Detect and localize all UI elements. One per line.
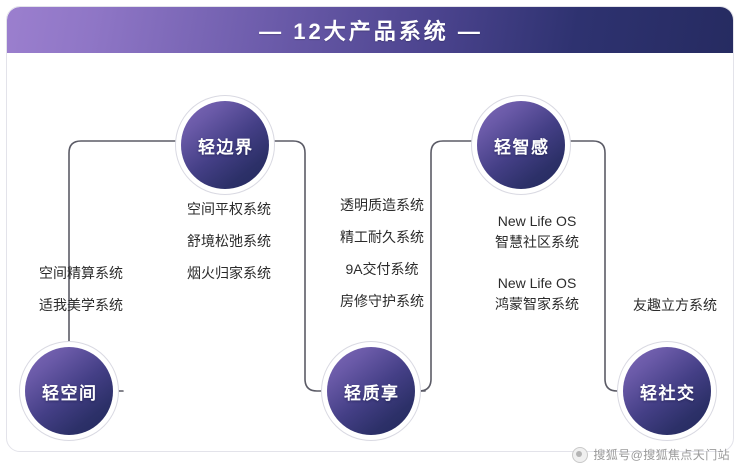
list-item: New Life OS 鸿蒙智家系统 — [463, 273, 611, 315]
list-item: 适我美学系统 — [15, 295, 147, 315]
item-line: 空间平权系统 — [159, 199, 299, 219]
node-label: 轻边界 — [197, 133, 254, 158]
infographic-root: — 12大产品系统 — 轻边界 轻智感 轻空间 轻质享 — [0, 0, 740, 467]
item-line: 精工耐久系统 — [311, 227, 453, 247]
item-line: 透明质造系统 — [311, 195, 453, 215]
infographic-card: — 12大产品系统 — 轻边界 轻智感 轻空间 轻质享 — [6, 6, 734, 452]
page-title: — 12大产品系统 — — [259, 14, 483, 46]
item-line: 鸿蒙智家系统 — [463, 294, 611, 315]
item-line: 烟火归家系统 — [159, 263, 299, 283]
group-qingbianjie: 空间平权系统 舒境松弛系统 烟火归家系统 — [159, 199, 299, 283]
group-qingzhixiang: 透明质造系统 精工耐久系统 9A交付系统 房修守护系统 — [311, 195, 453, 311]
item-line: 智慧社区系统 — [463, 232, 611, 253]
item-line: 舒境松弛系统 — [159, 231, 299, 251]
list-item: 烟火归家系统 — [159, 263, 299, 283]
group-qingkongjian: 空间精算系统 适我美学系统 — [15, 263, 147, 315]
title-bar: — 12大产品系统 — — [7, 7, 734, 53]
list-item: New Life OS 智慧社区系统 — [463, 211, 611, 253]
node-label: 轻社交 — [639, 379, 696, 404]
list-item: 透明质造系统 — [311, 195, 453, 215]
node-qingshejiao[interactable]: 轻社交 — [623, 347, 711, 435]
list-item: 精工耐久系统 — [311, 227, 453, 247]
node-label: 轻空间 — [41, 379, 98, 404]
list-item: 舒境松弛系统 — [159, 231, 299, 251]
watermark: 搜狐号@搜狐焦点天门站 — [572, 446, 730, 463]
item-line: New Life OS — [463, 211, 611, 232]
watermark-text: 搜狐号@搜狐焦点天门站 — [593, 446, 730, 463]
node-qingzhigan[interactable]: 轻智感 — [477, 101, 565, 189]
node-label: 轻智感 — [493, 133, 550, 158]
item-line: 空间精算系统 — [15, 263, 147, 283]
list-item: 空间平权系统 — [159, 199, 299, 219]
item-line: New Life OS — [463, 273, 611, 294]
node-qingkongjian[interactable]: 轻空间 — [25, 347, 113, 435]
list-item: 空间精算系统 — [15, 263, 147, 283]
list-item: 9A交付系统 — [311, 259, 453, 279]
item-line: 友趣立方系统 — [609, 295, 734, 315]
item-line: 9A交付系统 — [311, 259, 453, 279]
group-qingzhigan: New Life OS 智慧社区系统 New Life OS 鸿蒙智家系统 — [463, 211, 611, 315]
list-item: 房修守护系统 — [311, 291, 453, 311]
item-line: 适我美学系统 — [15, 295, 147, 315]
node-qingbianjie[interactable]: 轻边界 — [181, 101, 269, 189]
item-line: 房修守护系统 — [311, 291, 453, 311]
sohu-logo-icon — [572, 447, 588, 463]
node-qingzhixiang[interactable]: 轻质享 — [327, 347, 415, 435]
list-item: 友趣立方系统 — [609, 295, 734, 315]
group-qingshejiao: 友趣立方系统 — [609, 295, 734, 315]
node-label: 轻质享 — [343, 379, 400, 404]
